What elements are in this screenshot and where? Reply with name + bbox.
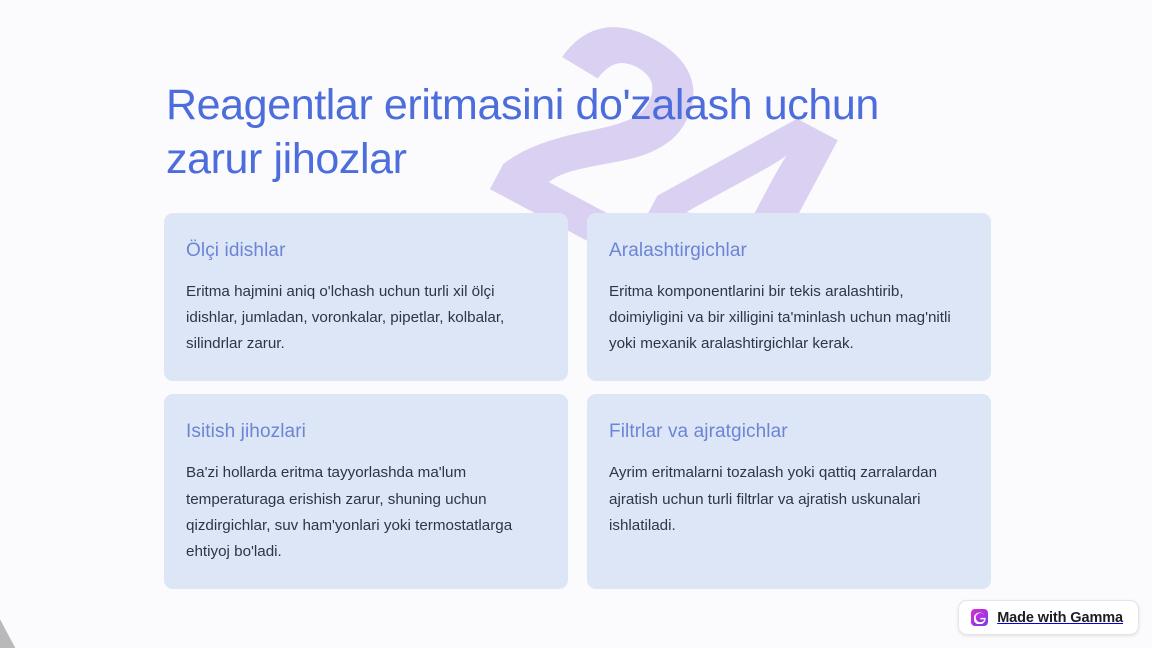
slide-canvas: 24 L Reagentlar eritmasini do'zalash uch… [0, 0, 1152, 648]
card-body: Eritma komponentlarini bir tekis aralash… [609, 279, 965, 357]
gamma-logo-icon [971, 609, 988, 626]
gamma-badge-label: Made with Gamma [997, 610, 1123, 626]
card-body: Ayrim eritmalarni tozalash yoki qattiq z… [609, 460, 965, 538]
info-card: Aralashtirgichlar Eritma komponentlarini… [587, 213, 991, 381]
gray-letter-watermark: L [0, 527, 138, 648]
card-title: Isitish jihozlari [186, 421, 542, 443]
card-title: Filtrlar va ajratgichlar [609, 421, 965, 443]
made-with-gamma-badge[interactable]: Made with Gamma [958, 600, 1139, 635]
card-body: Ba'zi hollarda eritma tayyorlashda ma'lu… [186, 460, 542, 565]
card-title: Ölçi idishlar [186, 240, 542, 262]
slide-title: Reagentlar eritmasini do'zalash uchun za… [166, 78, 966, 186]
info-card: Ölçi idishlar Eritma hajmini aniq o'lcha… [164, 213, 568, 381]
info-card: Isitish jihozlari Ba'zi hollarda eritma … [164, 394, 568, 589]
card-grid: Ölçi idishlar Eritma hajmini aniq o'lcha… [164, 213, 991, 589]
info-card: Filtrlar va ajratgichlar Ayrim eritmalar… [587, 394, 991, 589]
card-body: Eritma hajmini aniq o'lchash uchun turli… [186, 279, 542, 357]
card-title: Aralashtirgichlar [609, 240, 965, 262]
